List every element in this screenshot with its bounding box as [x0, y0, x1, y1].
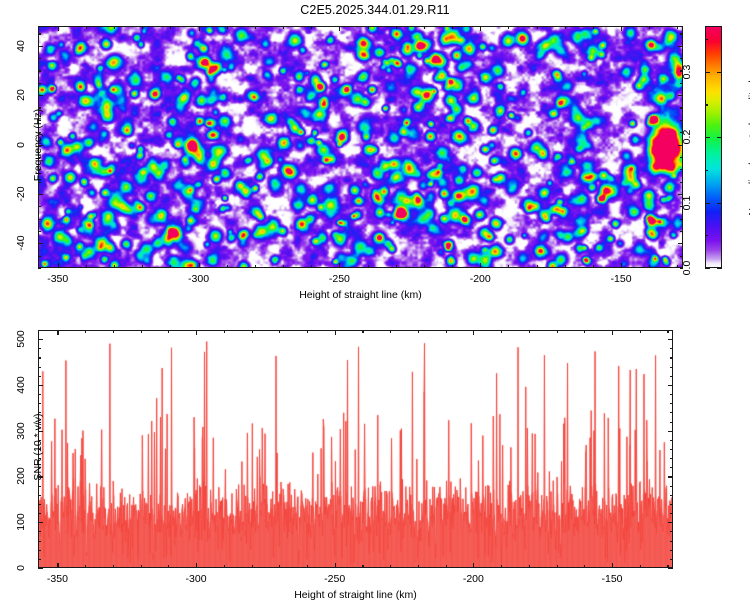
spectrogram-x-tick-top [480, 26, 481, 31]
spectrogram-y-minor-tick [38, 107, 41, 108]
spectrogram-y-minor-tick-right [680, 169, 683, 170]
snr-x-tick [473, 563, 474, 568]
snr-y-minor-tick [38, 550, 41, 551]
snr-y-minor-tick [38, 486, 41, 487]
snr-y-minor-tick-right [670, 449, 673, 450]
snr-y-minor-tick [38, 495, 41, 496]
snr-y-minor-tick-right [670, 330, 673, 331]
snr-y-minor-tick-right [670, 486, 673, 487]
snr-y-minor-tick [38, 531, 41, 532]
spectrogram-x-minor-tick [565, 265, 566, 268]
spectrogram-x-minor-tick [114, 265, 115, 268]
snr-x-tick-label: -200 [463, 573, 484, 585]
snr-x-minor-tick-top [85, 330, 86, 333]
snr-y-tick-right [668, 431, 673, 432]
spectrogram-y-minor-tick [38, 132, 41, 133]
snr-y-minor-tick [38, 412, 41, 413]
snr-x-tick-label: -300 [186, 573, 207, 585]
snr-y-minor-tick [38, 367, 41, 368]
snr-y-minor-tick-right [670, 394, 673, 395]
snr-y-minor-tick-right [670, 440, 673, 441]
snr-y-minor-tick-right [670, 367, 673, 368]
snr-y-tick-label: 100 [15, 509, 27, 535]
spectrogram-x-tick-top [339, 26, 340, 31]
snr-y-tick-right [668, 385, 673, 386]
spectrogram-x-minor-tick [283, 265, 284, 268]
snr-x-minor-tick [362, 565, 363, 568]
spectrogram-x-axis-label: Height of straight line (km) [299, 289, 422, 301]
snr-y-tick [38, 568, 43, 569]
colorbar-tick [705, 137, 710, 138]
colorbar-tick-right [717, 203, 722, 204]
snr-y-tick [38, 385, 43, 386]
spectrogram-x-minor-tick [227, 265, 228, 268]
snr-x-minor-tick [640, 565, 641, 568]
snr-x-minor-tick-top [529, 330, 530, 333]
spectrogram-y-tick [38, 194, 43, 195]
colorbar-tick-label: 0.2 [681, 124, 693, 150]
spectrogram-y-tick-right [678, 243, 683, 244]
snr-y-minor-tick [38, 376, 41, 377]
snr-x-minor-tick-top [252, 330, 253, 333]
spectrogram-x-minor-tick-top [537, 26, 538, 29]
snr-x-minor-tick-top [141, 330, 142, 333]
colorbar-minor-tick [705, 235, 708, 236]
snr-y-minor-tick-right [670, 504, 673, 505]
colorbar-tick-right [717, 72, 722, 73]
spectrogram-y-minor-tick-right [680, 219, 683, 220]
snr-x-minor-tick-top [390, 330, 391, 333]
snr-x-minor-tick [168, 565, 169, 568]
colorbar-tick [705, 72, 710, 73]
spectrogram-x-minor-tick [142, 265, 143, 268]
snr-x-tick-top [196, 330, 197, 335]
spectrogram-x-minor-tick [452, 265, 453, 268]
snr-x-minor-tick [501, 565, 502, 568]
snr-y-minor-tick [38, 458, 41, 459]
spectrogram-y-tick-label: 20 [15, 82, 27, 108]
spectrogram-y-minor-tick [38, 219, 41, 220]
snr-y-minor-tick [38, 422, 41, 423]
spectrogram-y-minor-tick-right [680, 157, 683, 158]
snr-y-minor-tick [38, 513, 41, 514]
colorbar-tick-label: 0.0 [681, 255, 693, 281]
spectrogram-plot-area [38, 26, 683, 268]
snr-y-minor-tick-right [670, 531, 673, 532]
snr-x-tick-top [335, 330, 336, 335]
snr-x-minor-tick-top [446, 330, 447, 333]
snr-x-tick-label: -150 [601, 573, 622, 585]
spectrogram-y-tick-label: -40 [15, 230, 27, 256]
snr-x-minor-tick-top [113, 330, 114, 333]
spectrogram-x-tick-label: -250 [329, 273, 350, 285]
spectrogram-x-tick-label: -350 [47, 273, 68, 285]
colorbar-minor-tick [705, 104, 708, 105]
spectrogram-x-minor-tick-top [142, 26, 143, 29]
snr-x-minor-tick-top [168, 330, 169, 333]
spectrogram-x-minor-tick-top [114, 26, 115, 29]
spectrogram-x-minor-tick [170, 265, 171, 268]
snr-x-minor-tick [446, 565, 447, 568]
spectrogram-x-minor-tick-top [368, 26, 369, 29]
snr-y-minor-tick [38, 541, 41, 542]
snr-y-minor-tick [38, 559, 41, 560]
snr-y-minor-tick [38, 467, 41, 468]
snr-x-minor-tick [224, 565, 225, 568]
snr-y-minor-tick [38, 504, 41, 505]
spectrogram-x-tick-label: -150 [611, 273, 632, 285]
spectrogram-y-minor-tick [38, 58, 41, 59]
spectrogram-x-minor-tick [311, 265, 312, 268]
snr-x-minor-tick [307, 565, 308, 568]
spectrogram-y-minor-tick [38, 231, 41, 232]
snr-y-minor-tick-right [670, 412, 673, 413]
snr-x-minor-tick [390, 565, 391, 568]
snr-x-tick [57, 563, 58, 568]
colorbar-tick-label: 0.1 [681, 190, 693, 216]
colorbar-tick-right [717, 137, 722, 138]
snr-x-tick [612, 563, 613, 568]
snr-y-minor-tick-right [670, 513, 673, 514]
spectrogram-x-minor-tick-top [170, 26, 171, 29]
colorbar-minor-tick [705, 170, 708, 171]
snr-x-minor-tick [279, 565, 280, 568]
snr-y-minor-tick-right [670, 348, 673, 349]
snr-y-tick-right [668, 339, 673, 340]
snr-x-minor-tick-top [224, 330, 225, 333]
spectrogram-y-minor-tick [38, 83, 41, 84]
spectrogram-x-minor-tick [677, 265, 678, 268]
snr-y-tick-label: 500 [15, 326, 27, 352]
spectrogram-y-tick-right [678, 46, 683, 47]
spectrogram-y-tick-label: 40 [15, 33, 27, 59]
snr-x-minor-tick [252, 565, 253, 568]
spectrogram-x-tick [621, 263, 622, 268]
snr-y-tick [38, 522, 43, 523]
snr-plot-area [38, 330, 673, 568]
spectrogram-x-minor-tick-top [508, 26, 509, 29]
figure-title: C2E5.2025.344.01.29.R11 [0, 3, 750, 17]
snr-x-minor-tick-top [667, 330, 668, 333]
snr-x-minor-tick-top [279, 330, 280, 333]
snr-y-tick [38, 476, 43, 477]
spectrogram-x-minor-tick-top [283, 26, 284, 29]
snr-y-tick-label: 300 [15, 418, 27, 444]
spectrogram-x-minor-tick-top [452, 26, 453, 29]
colorbar-tick [705, 203, 710, 204]
spectrogram-x-minor-tick-top [86, 26, 87, 29]
spectrogram-y-minor-tick-right [680, 231, 683, 232]
snr-x-minor-tick-top [640, 330, 641, 333]
spectrogram-x-minor-tick-top [677, 26, 678, 29]
spectrogram-x-minor-tick [537, 265, 538, 268]
spectrogram-x-minor-tick [396, 265, 397, 268]
spectrogram-x-tick-top [621, 26, 622, 31]
snr-y-minor-tick-right [670, 376, 673, 377]
snr-x-tick-top [612, 330, 613, 335]
snr-x-minor-tick [418, 565, 419, 568]
spectrogram-y-minor-tick [38, 256, 41, 257]
colorbar-tick [705, 268, 710, 269]
spectrogram-y-tick-label: 0 [15, 132, 27, 158]
spectrogram-x-minor-tick [255, 265, 256, 268]
snr-x-minor-tick-top [557, 330, 558, 333]
spectrogram-y-minor-tick-right [680, 182, 683, 183]
spectrogram-y-minor-tick [38, 120, 41, 121]
spectrogram-x-tick [58, 263, 59, 268]
snr-x-tick-label: -250 [324, 573, 345, 585]
colorbar-gradient [705, 26, 722, 268]
snr-x-minor-tick [529, 565, 530, 568]
spectrogram-x-minor-tick [86, 265, 87, 268]
snr-x-minor-tick-top [362, 330, 363, 333]
spectrogram-y-tick [38, 95, 43, 96]
snr-y-tick [38, 339, 43, 340]
snr-y-minor-tick-right [670, 357, 673, 358]
snr-x-minor-tick [584, 565, 585, 568]
colorbar-tick-right [717, 268, 722, 269]
figure-canvas: C2E5.2025.344.01.29.R11 Height of straig… [0, 0, 750, 600]
snr-y-minor-tick-right [670, 550, 673, 551]
snr-y-minor-tick-right [670, 458, 673, 459]
spectrogram-y-minor-tick [38, 70, 41, 71]
spectrogram-y-tick-label: -20 [15, 181, 27, 207]
spectrogram-x-tick-top [199, 26, 200, 31]
snr-y-minor-tick [38, 357, 41, 358]
snr-y-minor-tick [38, 449, 41, 450]
snr-y-minor-tick-right [670, 403, 673, 404]
spectrogram-y-tick [38, 46, 43, 47]
snr-y-tick-right [668, 476, 673, 477]
snr-y-minor-tick [38, 348, 41, 349]
snr-x-tick [335, 563, 336, 568]
colorbar-minor-tick [705, 39, 708, 40]
snr-x-minor-tick-top [501, 330, 502, 333]
snr-y-minor-tick [38, 330, 41, 331]
spectrogram-x-minor-tick [508, 265, 509, 268]
spectrogram-x-minor-tick-top [649, 26, 650, 29]
spectrogram-x-minor-tick-top [593, 26, 594, 29]
spectrogram-y-tick [38, 243, 43, 244]
snr-y-tick-label: 0 [15, 555, 27, 581]
snr-y-tick-right [668, 568, 673, 569]
spectrogram-x-minor-tick [368, 265, 369, 268]
spectrogram-x-tick [480, 263, 481, 268]
spectrogram-x-tick-label: -200 [470, 273, 491, 285]
snr-y-minor-tick-right [670, 422, 673, 423]
spectrogram-y-minor-tick [38, 169, 41, 170]
spectrogram-y-minor-tick-right [680, 107, 683, 108]
spectrogram-x-minor-tick-top [424, 26, 425, 29]
spectrogram-x-tick [339, 263, 340, 268]
snr-x-minor-tick [557, 565, 558, 568]
spectrogram-y-tick [38, 145, 43, 146]
spectrogram-y-minor-tick [38, 33, 41, 34]
spectrogram-x-minor-tick [593, 265, 594, 268]
spectrogram-x-tick-label: -300 [188, 273, 209, 285]
snr-y-tick-label: 400 [15, 372, 27, 398]
snr-y-tick [38, 431, 43, 432]
spectrogram-x-minor-tick-top [255, 26, 256, 29]
snr-y-minor-tick-right [670, 541, 673, 542]
snr-y-tick-label: 200 [15, 463, 27, 489]
snr-x-tick-top [473, 330, 474, 335]
spectrogram-x-minor-tick-top [311, 26, 312, 29]
spectrogram-x-minor-tick-top [565, 26, 566, 29]
spectrogram-x-tick-top [58, 26, 59, 31]
snr-x-minor-tick-top [418, 330, 419, 333]
snr-y-minor-tick [38, 394, 41, 395]
snr-x-minor-tick-top [584, 330, 585, 333]
snr-x-axis-label: Height of straight line (km) [294, 589, 417, 601]
spectrogram-y-minor-tick-right [680, 33, 683, 34]
snr-y-minor-tick-right [670, 559, 673, 560]
snr-x-tick-label: -350 [47, 573, 68, 585]
snr-x-minor-tick [141, 565, 142, 568]
spectrogram-image [39, 27, 682, 267]
spectrogram-y-minor-tick [38, 206, 41, 207]
snr-y-minor-tick [38, 403, 41, 404]
snr-x-tick [196, 563, 197, 568]
snr-y-tick-right [668, 522, 673, 523]
spectrogram-x-minor-tick-top [396, 26, 397, 29]
snr-y-minor-tick [38, 440, 41, 441]
colorbar-tick-label: 0.3 [681, 59, 693, 85]
snr-y-axis-label: SNR (10 * v/v) [32, 395, 44, 499]
spectrogram-y-minor-tick-right [680, 120, 683, 121]
snr-x-minor-tick [113, 565, 114, 568]
snr-x-minor-tick [85, 565, 86, 568]
spectrogram-x-minor-tick [649, 265, 650, 268]
spectrogram-x-minor-tick-top [227, 26, 228, 29]
snr-x-minor-tick-top [307, 330, 308, 333]
spectrogram-x-minor-tick [424, 265, 425, 268]
snr-y-minor-tick-right [670, 495, 673, 496]
spectrogram-y-tick-right [678, 95, 683, 96]
snr-y-minor-tick-right [670, 467, 673, 468]
snr-x-tick-top [57, 330, 58, 335]
spectrogram-y-minor-tick [38, 182, 41, 183]
spectrogram-y-minor-tick [38, 268, 41, 269]
spectrogram-x-tick [199, 263, 200, 268]
snr-trace [39, 331, 672, 567]
spectrogram-y-minor-tick [38, 157, 41, 158]
